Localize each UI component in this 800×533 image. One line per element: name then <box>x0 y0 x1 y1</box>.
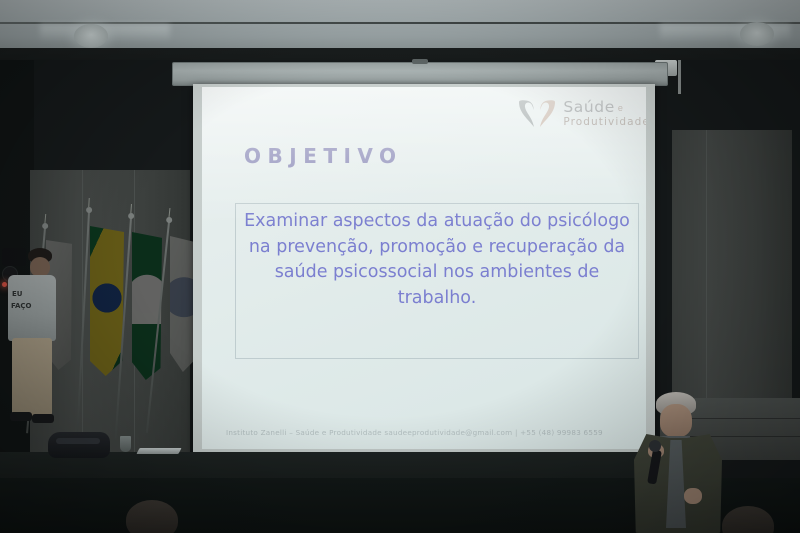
pole-spike <box>130 204 132 213</box>
heart-logo-icon <box>515 99 559 129</box>
photographer-shoe <box>32 414 54 423</box>
camera-icon <box>2 248 26 266</box>
logo-title: Saúde <box>563 98 615 116</box>
presenter-speaker <box>626 392 730 533</box>
logo-title-row: Saúdee <box>563 100 646 116</box>
slide-title: OBJETIVO <box>244 144 403 168</box>
camera-flash-icon <box>2 282 7 287</box>
shirt-print-line-2: FAÇO <box>11 303 31 310</box>
pole-spike <box>44 214 46 223</box>
slide-body-text: Examinar aspectos da atuação do psicólog… <box>242 209 632 312</box>
pole-finial <box>86 207 92 213</box>
speaker-face <box>660 404 692 437</box>
drinking-glass <box>120 436 131 452</box>
logo-subtitle: Produtividade <box>563 117 646 128</box>
shirt-print-line-1: EU <box>12 291 22 298</box>
photographer: EU FAÇO <box>2 248 68 444</box>
pole-spike <box>88 198 89 207</box>
photographer-pants <box>12 338 52 416</box>
pole-finial <box>166 217 173 224</box>
pole-finial <box>42 223 49 230</box>
logo-conjunction: e <box>618 103 623 113</box>
wall-panel-seam <box>706 130 707 398</box>
ceiling-light-right-icon <box>740 22 774 46</box>
screen-case-knob <box>412 59 428 64</box>
photographer-shoe <box>10 412 32 421</box>
backpack <box>48 432 110 458</box>
logo-text-block: Saúdee Produtividade <box>563 100 646 128</box>
paper-sheet <box>136 448 181 454</box>
audience-head-left <box>126 500 178 533</box>
screen-roller-case <box>172 62 668 86</box>
photographer-shirt: EU FAÇO <box>8 275 56 341</box>
presentation-slide: Saúdee Produtividade OBJETIVO Examinar a… <box>202 87 646 449</box>
flag-pole <box>76 212 90 442</box>
auditorium-presentation-scene: EU FAÇO Saúdee Produtivi <box>0 0 800 533</box>
projector-stem <box>678 60 681 94</box>
slide-footer: Instituto Zanelli – Saúde e Produtividad… <box>226 428 636 437</box>
saude-produtividade-logo: Saúdee Produtividade <box>515 99 646 129</box>
flag-parana <box>132 232 162 380</box>
speaker-hand-right <box>684 488 702 504</box>
pole-spike <box>169 208 171 217</box>
microphone-head-icon <box>649 440 661 452</box>
projection-screen: Saúdee Produtividade OBJETIVO Examinar a… <box>193 84 655 454</box>
backpack-strap <box>56 438 100 444</box>
pole-finial <box>128 213 134 219</box>
wall-panel-right <box>672 130 792 398</box>
photographer-face <box>30 257 50 277</box>
flag-brazil <box>90 226 124 376</box>
